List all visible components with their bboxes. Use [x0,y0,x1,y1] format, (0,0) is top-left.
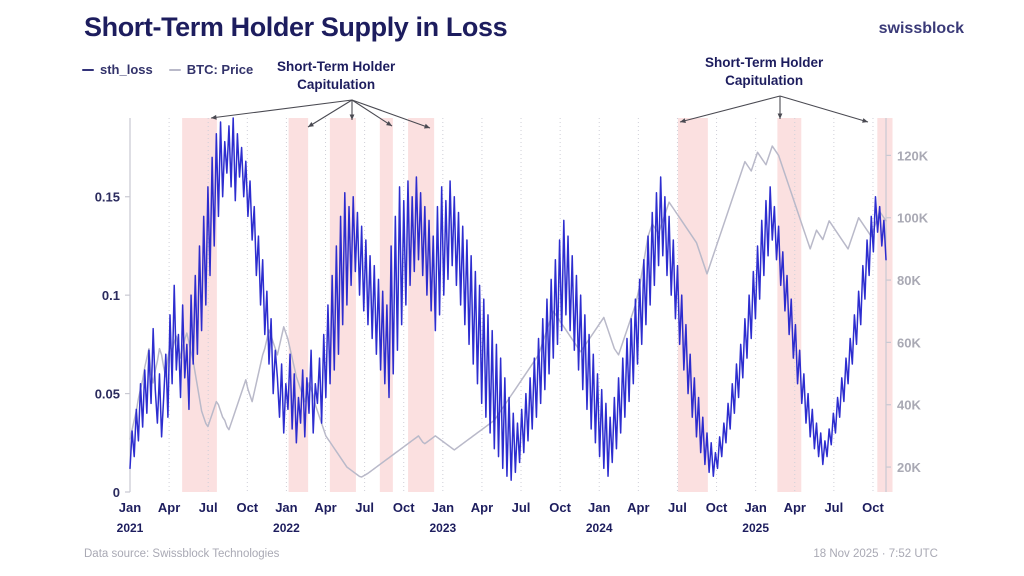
x-tick-label: Jul [199,500,218,515]
y-tick-label-left: 0 [113,485,120,500]
x-tick-label: Jul [824,500,843,515]
x-tick-label: Oct [862,500,884,515]
x-tick-label: Jul [668,500,687,515]
x-tick-label: Apr [627,500,649,515]
x-tick-label: Jul [355,500,374,515]
annotation-leader-line [211,100,352,118]
capitulation-band [408,118,434,492]
chart-page: Short-Term Holder Supply in Loss swissbl… [0,0,1024,576]
timestamp-label: 18 Nov 2025 · 7:52 UTC [813,548,938,560]
y-tick-label-left: 0.15 [95,190,120,205]
x-tick-label: Apr [158,500,180,515]
x-tick-label: Apr [471,500,493,515]
y-tick-label-right: 120K [897,148,929,163]
x-tick-label: Jan [588,500,610,515]
data-source-label: Data source: Swissblock Technologies [84,548,279,560]
series-line-sth-loss [130,118,886,480]
x-tick-label: Oct [236,500,258,515]
y-tick-label-left: 0.05 [95,387,120,402]
x-tick-label: Apr [784,500,806,515]
y-tick-label-right: 100K [897,211,929,226]
annotation-leader-line [680,96,780,122]
y-tick-label-right: 60K [897,335,921,350]
x-tick-label: Jan [744,500,766,515]
x-tick-label: Jan [275,500,297,515]
x-year-label: 2024 [586,521,613,535]
x-tick-label: Jan [432,500,454,515]
annotation-arrowhead [862,118,868,123]
x-tick-label: Oct [549,500,571,515]
capitulation-band [877,118,892,492]
y-tick-label-right: 80K [897,273,921,288]
y-tick-label-right: 20K [897,460,921,475]
x-year-label: 2022 [273,521,300,535]
x-tick-label: Jan [119,500,141,515]
x-tick-label: Oct [706,500,728,515]
x-tick-label: Jul [512,500,531,515]
x-tick-label: Oct [393,500,415,515]
capitulation-band [777,118,801,492]
x-year-label: 2025 [742,521,769,535]
x-year-label: 2023 [429,521,456,535]
y-tick-label-right: 40K [897,398,921,413]
x-tick-label: Apr [314,500,336,515]
annotation-leader-line [352,100,392,126]
x-year-label: 2021 [117,521,144,535]
y-tick-label-left: 0.1 [102,288,120,303]
chart-plot: 00.050.10.1520K40K60K80K100K120KJan2021A… [0,0,1024,576]
